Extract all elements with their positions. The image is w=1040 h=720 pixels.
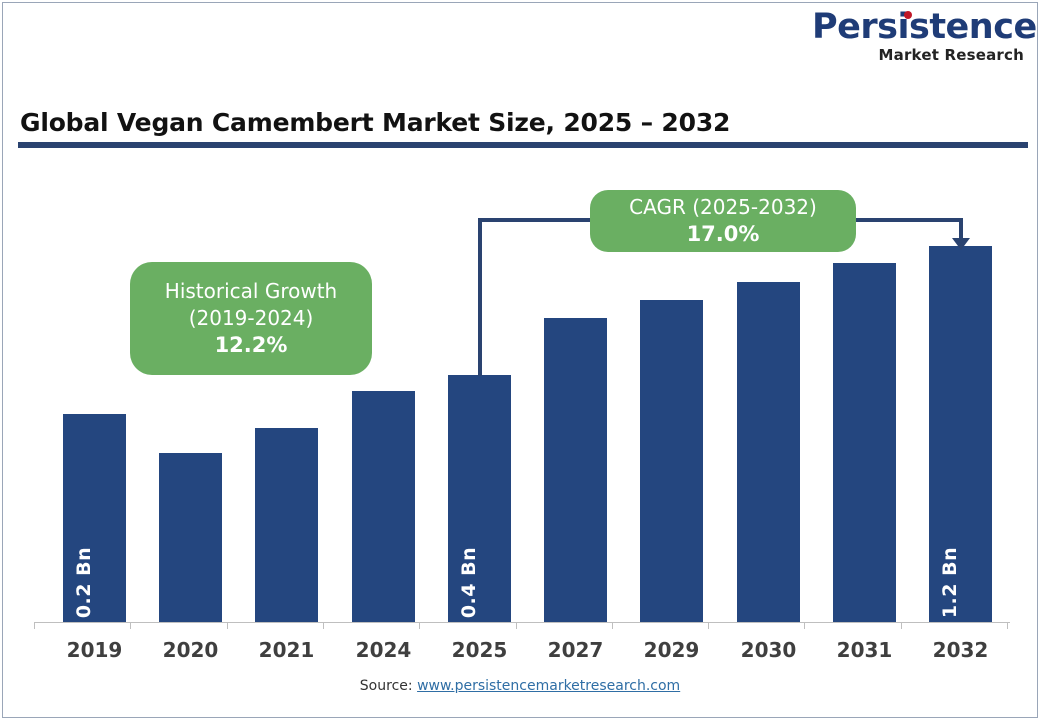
cagr-callout-value: 17.0% <box>687 221 760 248</box>
bar-2025: US$ 0.4 Bn <box>448 375 511 622</box>
x-label-2024: 2024 <box>338 638 429 662</box>
axis-tick <box>227 622 228 629</box>
x-label-2029: 2029 <box>626 638 717 662</box>
axis-tick <box>130 622 131 629</box>
historical-callout-line1: Historical Growth <box>165 278 337 305</box>
axis-tick <box>419 622 420 629</box>
cagr-callout: CAGR (2025-2032) 17.0% <box>590 190 856 252</box>
bar-2021 <box>255 428 318 622</box>
axis-tick <box>516 622 517 629</box>
x-label-2031: 2031 <box>819 638 910 662</box>
x-label-2030: 2030 <box>723 638 814 662</box>
bar-2019: US$ 0.2 Bn <box>63 414 126 622</box>
axis-tick <box>34 622 35 629</box>
x-label-2032: 2032 <box>915 638 1006 662</box>
x-label-2027: 2027 <box>530 638 621 662</box>
x-label-2025: 2025 <box>434 638 525 662</box>
x-label-2021: 2021 <box>241 638 332 662</box>
x-label-2019: 2019 <box>49 638 140 662</box>
bar-2030 <box>737 282 800 622</box>
historical-growth-callout: Historical Growth (2019-2024) 12.2% <box>130 262 372 375</box>
bar-2024 <box>352 391 415 622</box>
bar-2031 <box>833 263 896 622</box>
axis-tick <box>323 622 324 629</box>
historical-callout-line2: (2019-2024) <box>189 305 314 332</box>
bar-2020 <box>159 453 222 622</box>
axis-tick <box>804 622 805 629</box>
source-note: Source: www.persistencemarketresearch.co… <box>0 678 1040 694</box>
axis-tick <box>612 622 613 629</box>
chart-page: Persistence Market Research Global Vegan… <box>0 0 1040 720</box>
bar-2027 <box>544 318 607 622</box>
cagr-callout-line1: CAGR (2025-2032) <box>629 194 817 221</box>
x-label-2020: 2020 <box>145 638 236 662</box>
bar-2032: US$ 1.2 Bn <box>929 246 992 622</box>
axis-tick <box>1007 622 1008 629</box>
cagr-connector-right-drop <box>959 218 963 240</box>
historical-callout-value: 12.2% <box>215 332 288 359</box>
axis-tick <box>901 622 902 629</box>
bar-chart: US$ 0.2 BnUS$ 0.4 BnUS$ 1.2 Bn 201920202… <box>0 0 1040 720</box>
source-link[interactable]: www.persistencemarketresearch.com <box>417 678 680 694</box>
axis-tick <box>708 622 709 629</box>
x-axis-line <box>34 622 1010 623</box>
cagr-connector-left-drop <box>478 218 482 376</box>
cagr-arrow-icon <box>952 238 970 250</box>
source-prefix: Source: <box>360 678 417 694</box>
bar-2029 <box>640 300 703 622</box>
